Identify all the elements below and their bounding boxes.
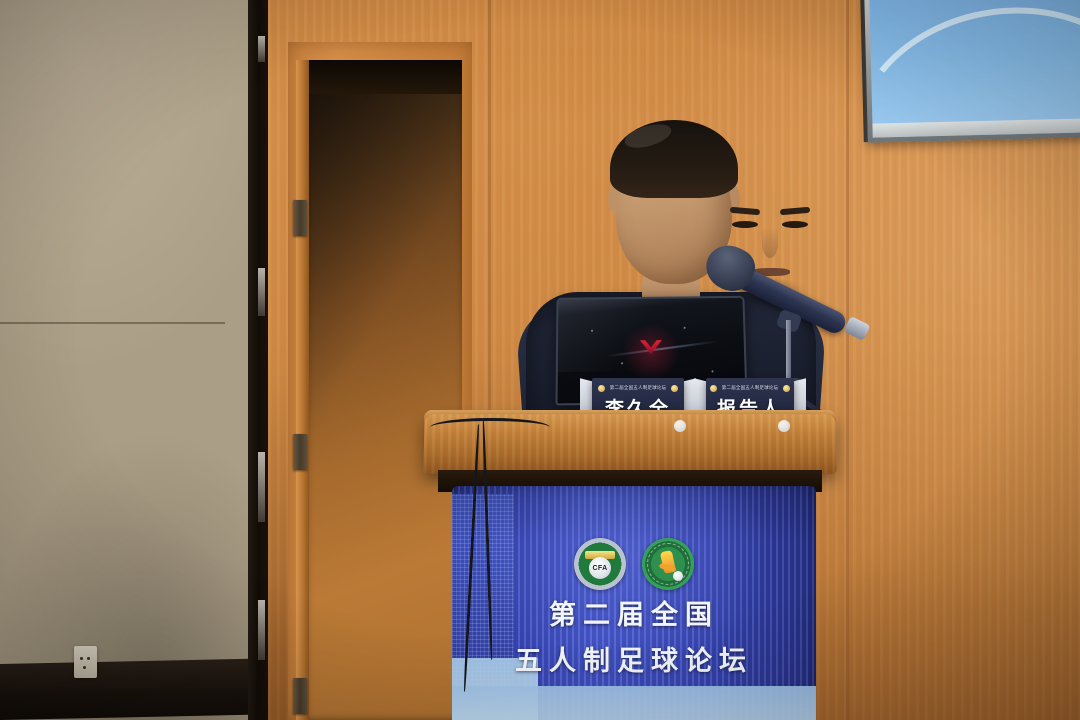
- door-leaf[interactable]: [304, 60, 462, 720]
- eyebrow-left: [730, 207, 760, 216]
- door-hinge-icon: [293, 434, 307, 470]
- nose: [762, 228, 778, 258]
- wall-outlet-icon: [74, 646, 97, 678]
- placard-event-text: 第二届全国五人制足球论坛: [610, 385, 666, 391]
- laptop-reflection: [607, 340, 718, 357]
- gap-highlight: [258, 268, 265, 316]
- door-hinge-icon: [293, 678, 307, 714]
- placard-dot-icon: [710, 385, 717, 392]
- cable: [430, 418, 550, 437]
- futsal-forum-logo-icon: [642, 538, 694, 590]
- placard-event-text: 第二届全国五人制足球论坛: [722, 385, 778, 391]
- cfa-logo-icon: CFA: [574, 538, 626, 590]
- placard-dot-icon: [783, 385, 790, 392]
- podium-knob-icon: [674, 420, 686, 432]
- door-frame: [288, 42, 472, 720]
- podium-knob-icon: [778, 420, 790, 432]
- screen-arc-graphic: [869, 0, 1080, 138]
- eyebrow-right: [780, 207, 810, 216]
- hair: [610, 120, 738, 198]
- mic-stem: [786, 320, 791, 382]
- left-wall: [0, 0, 262, 720]
- logo-glow: [621, 322, 682, 382]
- wall-seam: [0, 322, 225, 324]
- gap-highlight: [258, 36, 265, 62]
- door-gap-shadow: [304, 60, 462, 94]
- placard-header: 第二届全国五人制足球论坛: [592, 382, 684, 394]
- legion-y-icon: [640, 340, 662, 364]
- gap-highlight: [258, 600, 265, 660]
- door-hinge-icon: [293, 200, 307, 236]
- conference-photo: 第二届全国五人制足球论坛 李久全 第二届全国五人制足球论坛 报告人 CFA: [0, 0, 1080, 720]
- cfa-logo-text: CFA: [589, 557, 611, 579]
- baseboard: [0, 659, 262, 720]
- door-edge: [296, 60, 309, 720]
- screen-face: [869, 0, 1080, 138]
- placard-dot-icon: [671, 385, 678, 392]
- podium-title: 第二届全国 五人制足球论坛: [452, 596, 816, 682]
- podium-title-line2: 五人制足球论坛: [452, 642, 816, 682]
- podium-title-line1: 第二届全国: [452, 596, 816, 636]
- skirt-light-band: [452, 686, 816, 720]
- podium-logos: CFA: [452, 534, 816, 594]
- gap-highlight: [258, 452, 265, 522]
- eye-right: [782, 221, 808, 228]
- projection-screen: [864, 0, 1080, 143]
- placard-dot-icon: [598, 385, 605, 392]
- eye-left: [732, 221, 758, 228]
- placard-header: 第二届全国五人制足球论坛: [706, 382, 794, 394]
